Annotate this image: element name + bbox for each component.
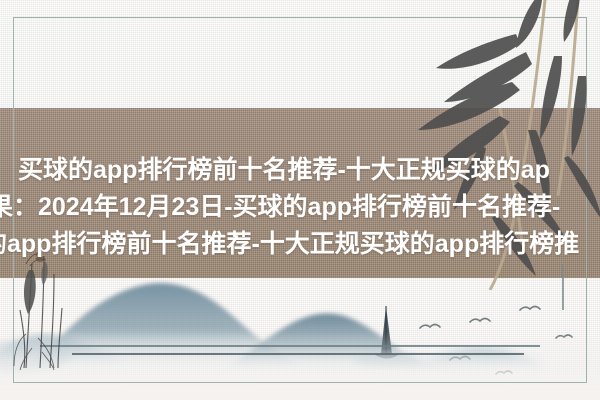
headline-line-1: 买球的app排行榜前十名推荐-十大正规买球的ap <box>0 152 600 189</box>
banner-headline-block: 买球的app排行榜前十名推荐-十大正规买球的ap 果：2024年12月23日-买… <box>0 152 600 263</box>
headline-line-2: 果：2024年12月23日-买球的app排行榜前十名推荐- <box>0 189 600 226</box>
divider-line-lower <box>72 353 524 355</box>
divider-line-upper <box>40 345 540 347</box>
headline-line-3: 的app排行榜前十名推荐-十大正规买球的app排行榜推 <box>0 226 600 263</box>
artwork-canvas: 买球的app排行榜前十名推荐-十大正规买球的ap 果：2024年12月23日-买… <box>0 0 600 400</box>
